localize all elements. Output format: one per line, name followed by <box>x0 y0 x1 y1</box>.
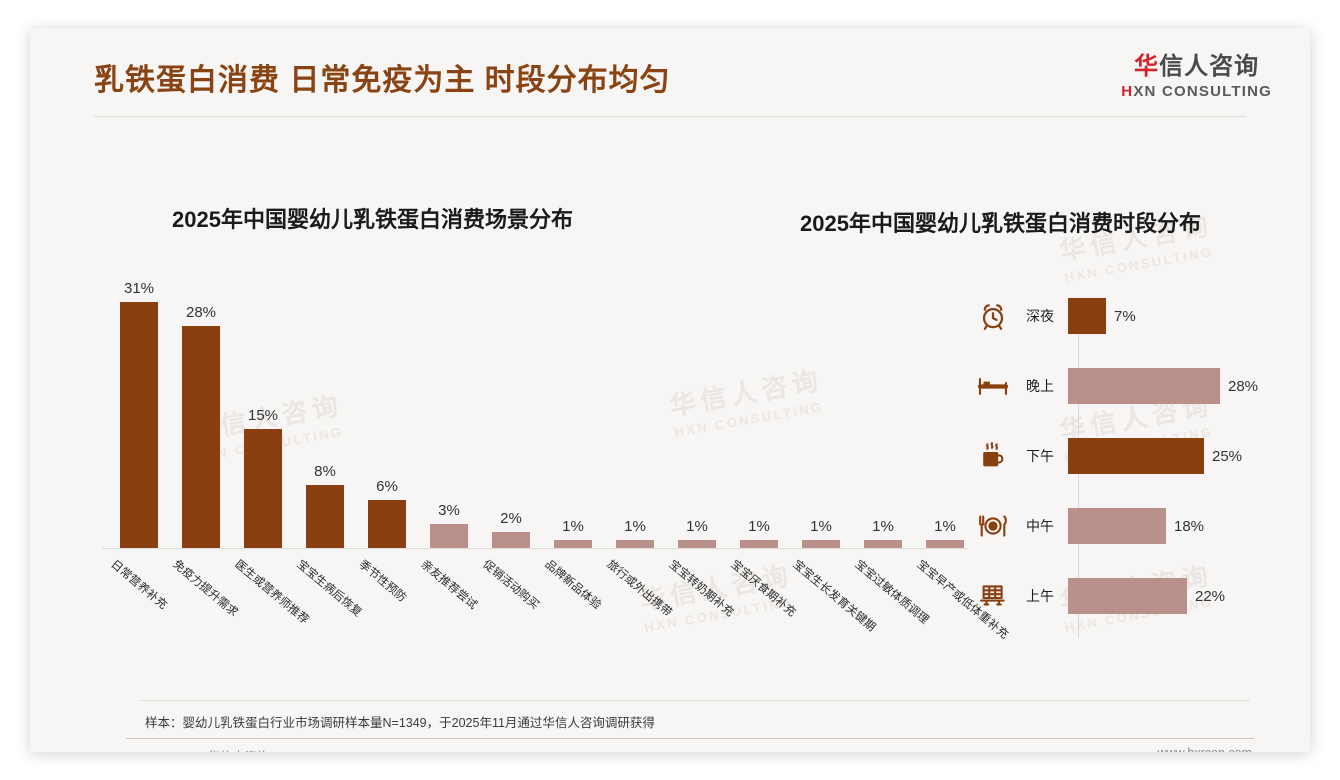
watermark-line2: HXN CONSULTING <box>1063 243 1218 285</box>
bar <box>492 532 530 548</box>
bar <box>430 524 468 548</box>
bar <box>678 540 716 548</box>
bar-value-label: 1% <box>686 518 708 535</box>
slide-canvas: 乳铁蛋白消费 日常免疫为主 时段分布均匀 华信人咨询 HXN CONSULTIN… <box>30 28 1310 752</box>
bar-value-label: 22% <box>1195 588 1225 605</box>
bar-value-label: 1% <box>934 518 956 535</box>
bar <box>864 540 902 548</box>
vertical-bars-area: 31%28%15%8%6%3%2%1%1%1%1%1%1%1% <box>102 268 972 548</box>
time-row: 晚上28% <box>970 360 1290 412</box>
bar-track: 7% <box>1068 290 1290 342</box>
logo-english-text: HXN CONSULTING <box>1121 84 1272 99</box>
bar-column: 1% <box>542 518 604 548</box>
bar-track: 22% <box>1068 570 1290 622</box>
bar <box>1068 508 1166 544</box>
page-title: 乳铁蛋白消费 日常免疫为主 时段分布均匀 <box>94 55 671 99</box>
bed-icon <box>970 373 1016 399</box>
bar-column: 3% <box>418 502 480 548</box>
bar-value-label: 31% <box>124 280 154 297</box>
bar-category-label: 亲友推荐尝试 <box>418 556 481 613</box>
shopping-cart-icon <box>970 581 1016 611</box>
bar-value-label: 1% <box>810 518 832 535</box>
time-distribution-chart: 深夜7%晚上28%下午25%中午18%上午22% <box>970 290 1290 650</box>
logo-h-char: H <box>1121 83 1133 100</box>
bar <box>244 429 282 548</box>
plate-cutlery-icon <box>970 512 1016 540</box>
bar-value-label: 28% <box>1228 378 1258 395</box>
bar-value-label: 15% <box>248 407 278 424</box>
time-category-label: 晚上 <box>1016 376 1068 396</box>
bar-category-label: 日常营养补充 <box>108 556 171 613</box>
sample-note: 样本：婴幼儿乳铁蛋白行业市场调研样本量N=1349，于2025年11月通过华信人… <box>145 712 655 731</box>
website-link[interactable]: www.hxrcon.com <box>1158 746 1252 752</box>
bar-category-label: 季节性预防 <box>356 556 410 605</box>
left-chart-title: 2025年中国婴幼儿乳铁蛋白消费场景分布 <box>172 202 573 234</box>
coffee-cup-icon <box>970 440 1016 472</box>
bar-track: 25% <box>1068 430 1290 482</box>
bar <box>616 540 654 548</box>
bar <box>802 540 840 548</box>
bar-category-label: 旅行或外出携带 <box>604 556 676 620</box>
bar-value-label: 8% <box>314 463 336 480</box>
bar <box>1068 368 1220 404</box>
logo-cn-rest: 信人咨询 <box>1159 53 1259 80</box>
right-chart-title: 2025年中国婴幼儿乳铁蛋白消费时段分布 <box>800 206 1201 238</box>
bar-column: 28% <box>170 304 232 548</box>
bar-column: 1% <box>852 518 914 548</box>
bar <box>306 485 344 548</box>
bar-value-label: 1% <box>624 518 646 535</box>
bar-column: 1% <box>604 518 666 548</box>
left-chart-baseline <box>102 548 968 549</box>
bar-category-label: 促销活动购买 <box>480 556 543 613</box>
bar <box>182 326 220 548</box>
bar-column: 8% <box>294 463 356 548</box>
time-row: 中午18% <box>970 500 1290 552</box>
bar <box>926 540 964 548</box>
alarm-clock-icon <box>970 301 1016 331</box>
sample-divider <box>140 700 1250 701</box>
bar-category-label: 宝宝转奶期补充 <box>666 556 738 620</box>
bar-value-label: 6% <box>376 478 398 495</box>
bar-category-label: 宝宝厌食期补充 <box>728 556 800 620</box>
bar-column: 15% <box>232 407 294 548</box>
time-category-label: 上午 <box>1016 586 1068 606</box>
bar <box>368 500 406 548</box>
time-row: 下午25% <box>970 430 1290 482</box>
bar <box>554 540 592 548</box>
bar-value-label: 7% <box>1114 308 1136 325</box>
company-logo: 华信人咨询 HXN CONSULTING <box>1121 55 1272 99</box>
scene-distribution-chart: 31%28%15%8%6%3%2%1%1%1%1%1%1%1% 日常营养补充免疫… <box>76 268 972 688</box>
bar <box>1068 298 1106 334</box>
bar-value-label: 2% <box>500 510 522 527</box>
time-row: 深夜7% <box>970 290 1290 342</box>
bar-column: 1% <box>728 518 790 548</box>
bar-column: 1% <box>666 518 728 548</box>
footer-divider <box>126 738 1254 739</box>
bar-value-label: 18% <box>1174 518 1204 535</box>
bar-value-label: 1% <box>748 518 770 535</box>
bar-column: 1% <box>790 518 852 548</box>
bar <box>1068 438 1204 474</box>
bar-track: 18% <box>1068 500 1290 552</box>
bar-value-label: 1% <box>562 518 584 535</box>
bar <box>740 540 778 548</box>
bar-value-label: 25% <box>1212 448 1242 465</box>
time-category-label: 下午 <box>1016 446 1068 466</box>
time-category-label: 深夜 <box>1016 306 1068 326</box>
bar <box>1068 578 1187 614</box>
bar-column: 1% <box>914 518 976 548</box>
slide-header: 乳铁蛋白消费 日常免疫为主 时段分布均匀 华信人咨询 HXN CONSULTIN… <box>30 28 1310 116</box>
bar-track: 28% <box>1068 360 1290 412</box>
bar-value-label: 28% <box>186 304 216 321</box>
bar-category-label: 品牌新品体验 <box>542 556 605 613</box>
header-divider <box>94 116 1246 117</box>
logo-hua-char: 华 <box>1134 53 1159 80</box>
bar-value-label: 1% <box>872 518 894 535</box>
time-row: 上午22% <box>970 570 1290 622</box>
logo-en-rest: XN CONSULTING <box>1133 83 1272 100</box>
copyright-text: ©2026.1 HXR华信人咨询 <box>130 746 270 752</box>
bar-column: 6% <box>356 478 418 548</box>
bar-value-label: 3% <box>438 502 460 519</box>
logo-chinese-text: 华信人咨询 <box>1121 55 1272 79</box>
bar-category-label: 免疫力提升需求 <box>170 556 242 620</box>
bar-column: 31% <box>108 280 170 548</box>
bar-column: 2% <box>480 510 542 548</box>
time-category-label: 中午 <box>1016 516 1068 536</box>
bar <box>120 302 158 548</box>
